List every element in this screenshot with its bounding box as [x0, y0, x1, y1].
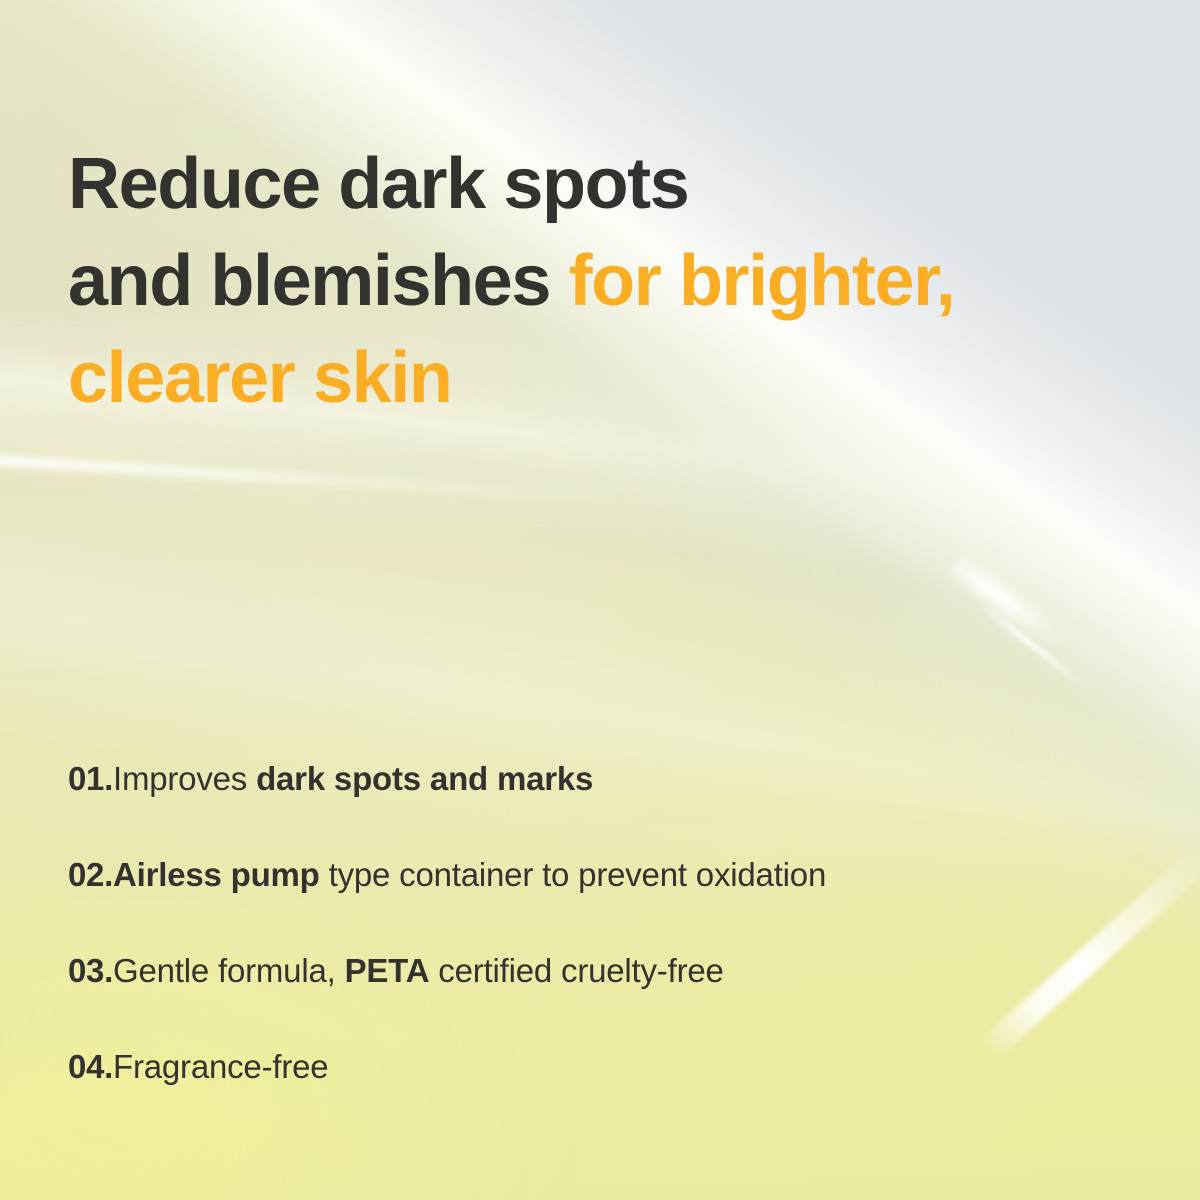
product-marketing-banner: Reduce dark spotsand blemishes for brigh… — [0, 0, 1200, 1200]
feature-number: 03. — [68, 952, 113, 989]
feature-emphasis-text: PETA — [345, 952, 430, 989]
feature-emphasis-text: Airless pump — [113, 856, 320, 893]
feature-trail-text: certified cruelty-free — [429, 952, 723, 989]
list-item: 04.Fragrance-free — [68, 1045, 1148, 1141]
headline-line-2-accent: for brighter, — [569, 241, 955, 321]
feature-list: 01.Improves dark spots and marks 02.Airl… — [68, 757, 1148, 1141]
list-item: 02.Airless pump type container to preven… — [68, 853, 1148, 949]
list-item: 01.Improves dark spots and marks — [68, 757, 1148, 853]
page-title: Reduce dark spotsand blemishes for brigh… — [68, 136, 1158, 427]
headline-line-3-accent: clearer skin — [68, 338, 452, 418]
feature-lead-text: Fragrance-free — [113, 1048, 328, 1085]
feature-lead-text: Gentle formula, — [113, 952, 345, 989]
feature-number: 01. — [68, 760, 113, 797]
feature-trail-text: type container to prevent oxidation — [320, 856, 826, 893]
headline-line-2-dark: and blemishes — [68, 241, 569, 321]
feature-emphasis-text: dark spots and marks — [256, 760, 593, 797]
feature-number: 02. — [68, 856, 113, 893]
list-item: 03.Gentle formula, PETA certified cruelt… — [68, 949, 1148, 1045]
feature-lead-text: Improves — [113, 760, 256, 797]
banner-content: Reduce dark spotsand blemishes for brigh… — [0, 0, 1200, 1200]
headline-line-1: Reduce dark spots — [68, 144, 688, 224]
feature-number: 04. — [68, 1048, 113, 1085]
